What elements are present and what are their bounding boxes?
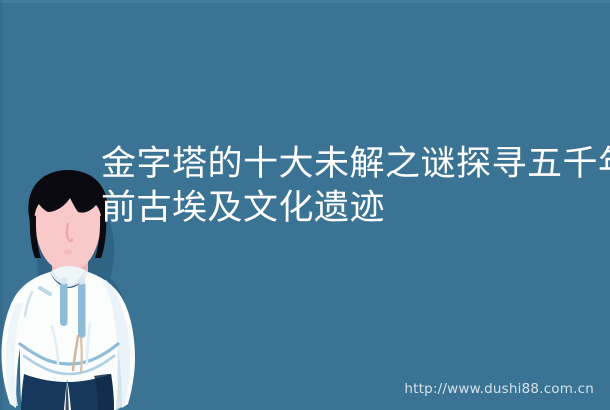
page-title: 金字塔的十大未解之谜探寻五千年 前古埃及文化遗迹 [101,142,606,230]
watermark-url: http://www.dushi88.com.cn [404,381,594,397]
title-line-2: 前古埃及文化遗迹 [101,186,606,230]
title-line-1: 金字塔的十大未解之谜探寻五千年 [101,142,606,186]
poster-canvas: 金字塔的十大未解之谜探寻五千年 前古埃及文化遗迹 http://www.dush… [0,0,610,410]
top-edge-highlight [0,0,610,3]
drawstring-left [60,282,68,326]
chin-shade [63,250,73,255]
drawstring-right [78,282,86,338]
